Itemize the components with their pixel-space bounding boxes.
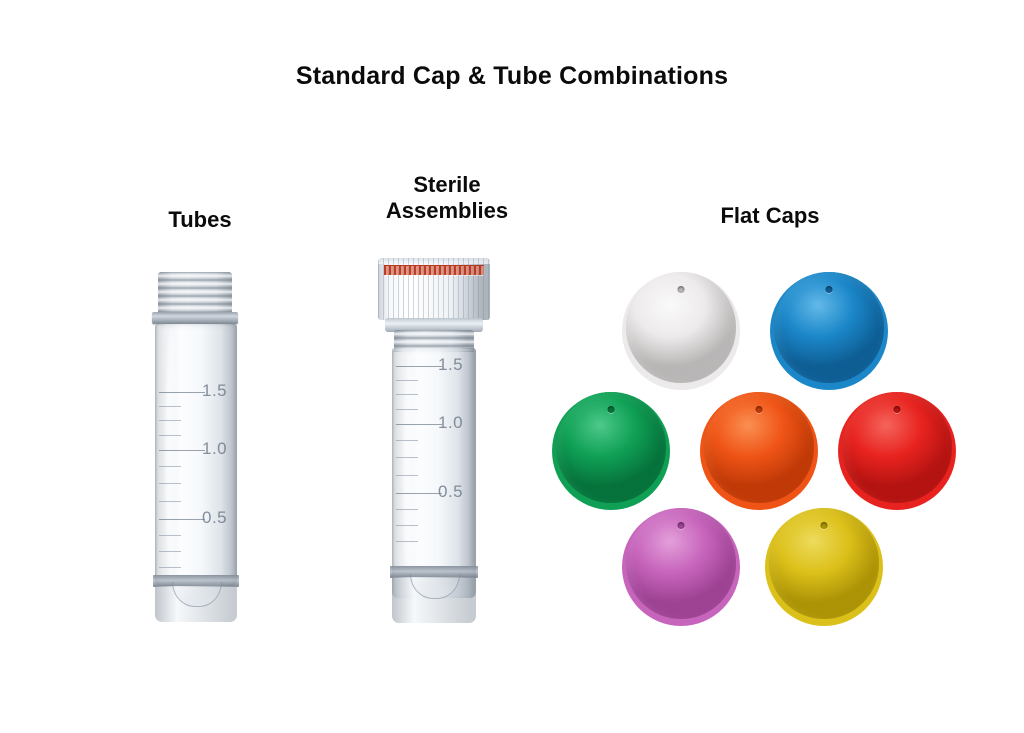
sterile-graduation-minor xyxy=(396,457,418,458)
tube-graduation-minor xyxy=(159,567,181,568)
flat-cap-yellow xyxy=(765,508,883,626)
flat-cap-nub xyxy=(826,286,833,293)
tube-neck-threads xyxy=(158,272,232,314)
flat-cap-nub xyxy=(756,406,763,413)
tube-flange xyxy=(152,312,238,324)
tube-graduation-major-10 xyxy=(159,450,205,451)
column-label-flat-caps: Flat Caps xyxy=(665,203,875,229)
column-label-sterile-line2: Assemblies xyxy=(327,198,567,224)
tube-graduation-label-10: 1.0 xyxy=(202,439,227,459)
flat-cap-nub xyxy=(894,406,901,413)
sterile-graduation-minor xyxy=(396,541,418,542)
sterile-graduation-minor xyxy=(396,509,418,510)
flat-cap-blue xyxy=(770,272,888,390)
sterile-tube-body xyxy=(392,348,476,598)
sterile-cap-ribs xyxy=(378,258,490,320)
column-label-sterile-line1: Sterile xyxy=(327,172,567,198)
sterile-graduation-label-15: 1.5 xyxy=(438,355,463,375)
tube-graduation-major-05 xyxy=(159,519,205,520)
tube-product-image: 1.5 1.0 0.5 xyxy=(150,272,260,622)
sterile-graduation-minor xyxy=(396,380,418,381)
column-label-sterile-assemblies: Sterile Assemblies xyxy=(327,172,567,223)
tube-graduation-major-15 xyxy=(159,392,205,393)
tube-graduation-minor xyxy=(159,501,181,502)
sterile-assembly-product-image: 1.5 1.0 0.5 xyxy=(378,258,498,623)
page-title: Standard Cap & Tube Combinations xyxy=(0,62,1024,91)
tube-graduation-minor xyxy=(159,535,181,536)
flat-cap-red xyxy=(838,392,956,510)
flat-cap-nub xyxy=(821,522,828,529)
flat-cap-nub xyxy=(678,522,685,529)
column-label-tubes: Tubes xyxy=(110,207,290,233)
tube-graduation-minor xyxy=(159,466,181,467)
sterile-graduation-label-05: 0.5 xyxy=(438,482,463,502)
sterile-graduation-major-10 xyxy=(396,424,442,425)
flat-cap-green xyxy=(552,392,670,510)
flat-cap-nub xyxy=(608,406,615,413)
sterile-graduation-minor xyxy=(396,475,418,476)
tube-graduation-minor xyxy=(159,483,181,484)
flat-cap-violet xyxy=(622,508,740,626)
sterile-graduation-minor xyxy=(396,440,418,441)
tube-graduation-minor xyxy=(159,420,181,421)
flat-cap-nub xyxy=(678,286,685,293)
sterile-graduation-major-15 xyxy=(396,366,442,367)
sterile-graduation-minor xyxy=(396,409,418,410)
flat-cap-natural xyxy=(622,272,740,390)
sterile-cap xyxy=(378,258,490,320)
tube-graduation-minor xyxy=(159,406,181,407)
tube-graduation-minor xyxy=(159,551,181,552)
tube-graduation-label-15: 1.5 xyxy=(202,381,227,401)
sterile-graduation-label-10: 1.0 xyxy=(438,413,463,433)
tube-graduation-label-05: 0.5 xyxy=(202,508,227,528)
tube-graduation-minor xyxy=(159,435,181,436)
poster-canvas: Standard Cap & Tube Combinations Tubes S… xyxy=(0,0,1024,733)
sterile-graduation-minor xyxy=(396,394,418,395)
flat-cap-orange xyxy=(700,392,818,510)
sterile-graduation-major-05 xyxy=(396,493,442,494)
sterile-graduation-minor xyxy=(396,525,418,526)
